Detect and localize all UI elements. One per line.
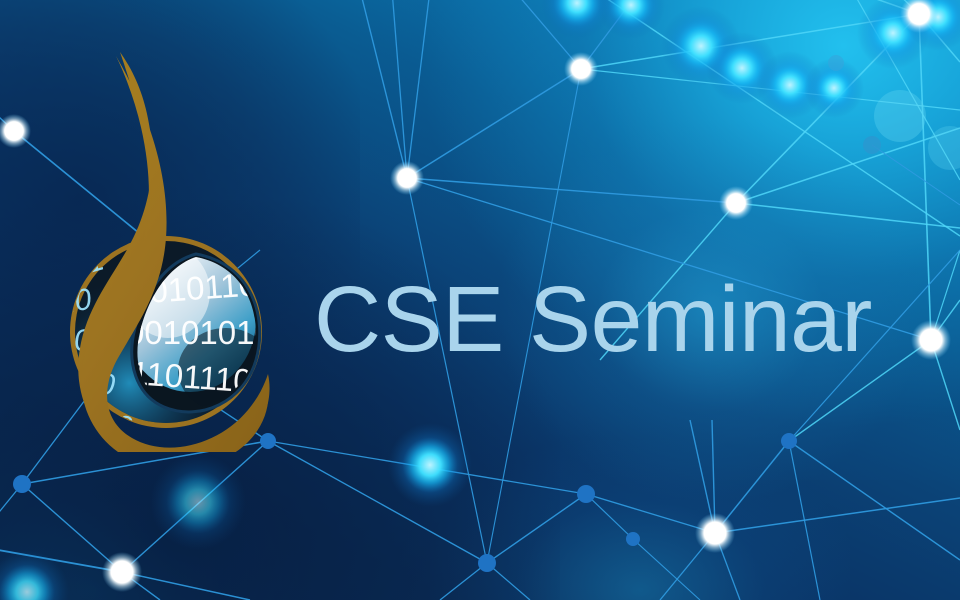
- cse-flame-globe-logo: 11 10 10 010 010. 01010' 1010110 0010101…: [48, 52, 308, 452]
- svg-text:00101010: 00101010: [126, 314, 273, 351]
- cse-seminar-banner: 11 10 10 010 010. 01010' 1010110 0010101…: [0, 0, 960, 600]
- page-title: CSE Seminar: [314, 273, 872, 366]
